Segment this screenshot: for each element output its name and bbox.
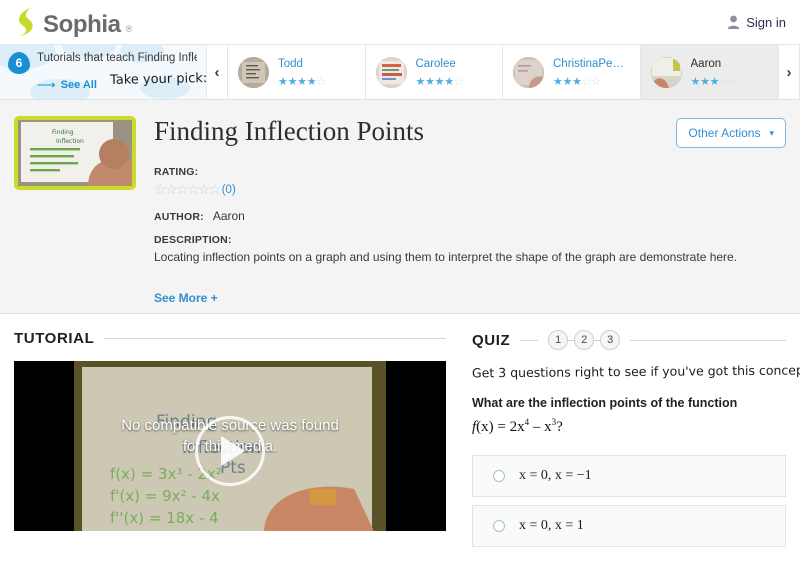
quiz-step-1[interactable]: 1 [548,330,568,350]
quiz-step-indicator: 1 2 3 [548,330,620,350]
tutorial-author-name: Todd [278,57,326,72]
tutorial-column: TUTORIAL Finding Inflection Pts f(x) = 3… [14,314,446,555]
video-player[interactable]: Finding Inflection Pts f(x) = 3x³ - 2x² … [14,361,446,531]
quiz-section-title: QUIZ [472,332,510,349]
description-text: Locating inflection points on a graph an… [154,249,786,265]
see-all-link[interactable]: See All [61,79,97,91]
rating-stars: ★★★★☆ [416,75,464,88]
tutorial-card-todd[interactable]: Todd ★★★★☆ [228,45,366,99]
detail-body: Finding Inflection Points RATING: ☆☆☆☆☆☆… [154,116,786,291]
quiz-column: QUIZ 1 2 3 Get 3 questions right to see … [472,314,786,555]
top-navbar: Sophia ® Sign in [0,0,800,44]
avatar [651,57,682,88]
formula-body: (x) = 2x [476,419,524,435]
avatar [513,57,544,88]
tutorial-detail-header: Finding Inflection Finding Inflection Po… [0,100,800,314]
rating-label: RATING: [154,166,786,178]
quiz-section-header: QUIZ 1 2 3 [472,330,786,350]
quiz-option-1[interactable]: x = 0, x = −1 [472,455,786,497]
content-columns: TUTORIAL Finding Inflection Pts f(x) = 3… [0,314,800,555]
take-your-pick-note: Take your pick: [110,71,206,88]
carousel-prev-button[interactable]: ‹ [206,45,228,99]
quiz-step-2[interactable]: 2 [574,330,594,350]
formula-mid: – x [529,419,552,435]
quiz-option-label: x = 0, x = −1 [519,468,592,484]
tutorial-card-carolee[interactable]: Carolee ★★★★☆ [366,45,504,99]
brand-logo[interactable]: Sophia ® [14,7,132,37]
avatar-image [651,57,682,88]
avatar-image [376,57,407,88]
tutorial-section-header: TUTORIAL [14,330,446,347]
chevron-down-icon: ▾ [769,128,774,139]
author-row: AUTHOR: Aaron [154,209,786,223]
sign-in-label: Sign in [746,15,786,30]
quiz-option-2[interactable]: x = 0, x = 1 [472,505,786,547]
tutorial-author-name: Carolee [416,57,464,72]
radio-button[interactable] [493,470,505,482]
section-divider [520,340,538,341]
carousel-next-button[interactable]: › [778,45,800,99]
avatar-image [238,57,269,88]
rating-stars: ★★★☆☆ [553,75,630,88]
tutorial-section-title: TUTORIAL [14,330,94,347]
carousel-promo: 6 Tutorials that teach Finding Infle ⟶ S… [0,45,206,99]
sign-in-button[interactable]: Sign in [727,15,786,30]
tutorial-author-name: Aaron [691,57,739,72]
promo-text: Tutorials that teach Finding Infle [37,51,197,65]
quiz-question-prompt: What are the inflection points of the fu… [472,395,786,412]
rating-stars-empty[interactable]: ☆☆☆☆☆☆ [154,181,220,199]
formula-tail: ? [556,419,563,435]
tutorial-carousel: 6 Tutorials that teach Finding Infle ⟶ S… [0,44,800,100]
rating-count: (0) [222,184,236,196]
see-more-link[interactable]: See More + [154,291,218,305]
author-name: Aaron [213,209,245,223]
thumbnail-image: Finding Inflection [18,120,132,186]
sophia-leaf-icon [14,7,38,37]
carousel-track: Todd ★★★★☆ Carolee ★★★ [228,45,778,99]
svg-text:Inflection: Inflection [56,138,84,145]
tutorial-card-christinapease[interactable]: ChristinaPease ★★★☆☆ [503,45,641,99]
tutorial-author-name: ChristinaPease [553,57,630,72]
play-icon [221,436,245,466]
other-actions-label: Other Actions [688,126,760,140]
rating-stars: ★★★☆☆ [691,75,739,88]
svg-text:Finding: Finding [52,129,74,136]
brand-trademark: ® [126,24,133,37]
arrow-right-icon: ⟶ [37,78,56,91]
brand-name: Sophia [43,13,121,37]
quiz-options: x = 0, x = −1 x = 0, x = 1 [472,455,786,547]
play-button[interactable] [195,416,265,486]
avatar-image [513,57,544,88]
tutorial-thumbnail[interactable]: Finding Inflection [14,116,136,190]
svg-text:f''(x) = 18x - 4: f''(x) = 18x - 4 [110,509,219,527]
section-divider [630,340,786,341]
person-icon [727,15,740,29]
rating-stars: ★★★★☆ [278,75,326,88]
svg-text:f'(x) = 9x² - 4x: f'(x) = 9x² - 4x [110,487,220,505]
avatar [238,57,269,88]
tutorial-card-aaron[interactable]: Aaron ★★★☆☆ [641,45,779,99]
quiz-intro-note: Get 3 questions right to see if you've g… [472,363,786,381]
rating-row: ☆☆☆☆☆☆ (0) [154,181,786,199]
tutorial-count-badge: 6 [8,52,30,74]
other-actions-button[interactable]: Other Actions ▾ [676,118,786,148]
quiz-step-3[interactable]: 3 [600,330,620,350]
description-label: DESCRIPTION: [154,234,786,246]
radio-button[interactable] [493,520,505,532]
avatar [376,57,407,88]
section-divider [104,338,446,339]
quiz-question-formula: f(x) = 2x4 – x3? [472,417,786,436]
author-label: AUTHOR: [154,211,204,223]
quiz-option-label: x = 0, x = 1 [519,518,584,534]
